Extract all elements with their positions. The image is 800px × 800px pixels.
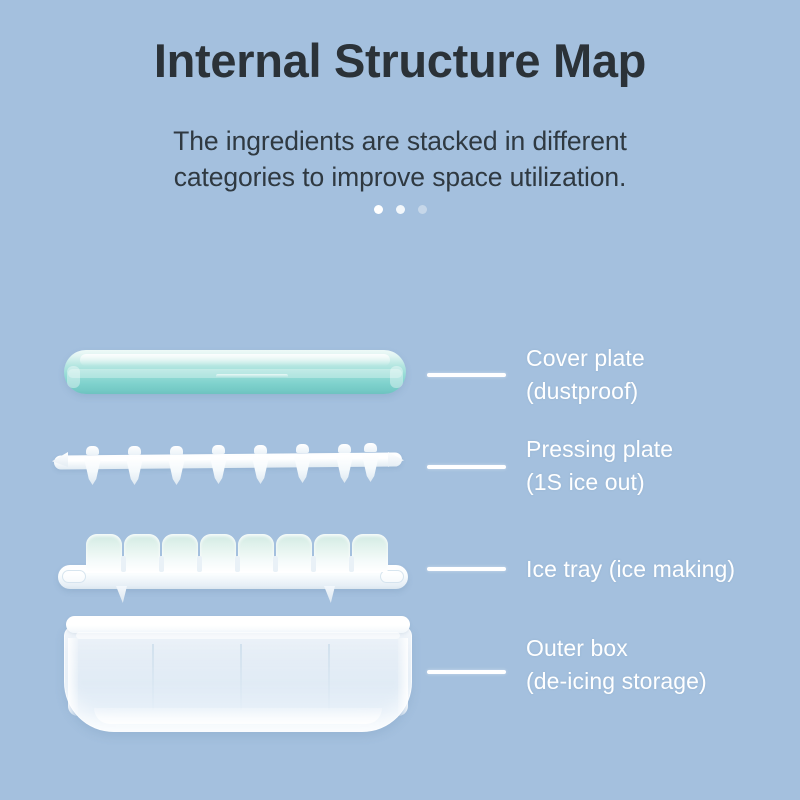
label-cover-plate-line-1: Cover plate [526, 342, 645, 375]
pressing-plate-nub [128, 446, 141, 455]
subtitle-line-2: categories to improve space utilization. [0, 160, 800, 196]
page-subtitle: The ingredients are stacked in different… [0, 124, 800, 195]
pressing-plate-prong [252, 457, 269, 484]
leader-line-outer-box [427, 670, 506, 674]
outer-box-inner-shelf [76, 632, 400, 639]
label-outer-box-line-1: Outer box [526, 632, 707, 665]
label-outer-box: Outer box (de-icing storage) [526, 632, 707, 697]
label-pressing-plate-line-1: Pressing plate [526, 433, 673, 466]
carousel-dots[interactable] [0, 205, 800, 214]
ice-tray-tab [116, 586, 127, 603]
pressing-plate-nub [296, 444, 309, 453]
pressing-plate-nub [338, 444, 351, 453]
label-pressing-plate-line-2: (1S ice out) [526, 466, 673, 499]
part-pressing-plate [54, 440, 402, 490]
outer-box-divider [152, 644, 154, 710]
outer-box-divider [328, 644, 330, 710]
label-outer-box-line-2: (de-icing storage) [526, 665, 707, 698]
carousel-dot-3[interactable] [418, 205, 427, 214]
cover-plate-highlight [80, 354, 390, 366]
leader-line-cover-plate [427, 373, 506, 377]
ice-tray-cube [276, 534, 312, 572]
cover-plate-seam [216, 374, 288, 378]
ice-tray-cube-gap [273, 556, 278, 572]
carousel-dot-1[interactable] [374, 205, 383, 214]
pressing-plate-nub [86, 446, 99, 455]
label-ice-tray: Ice tray (ice making) [526, 553, 735, 586]
outer-box-side-right [398, 638, 408, 716]
pressing-plate-prong [210, 457, 227, 484]
ice-tray-cube [162, 534, 198, 572]
page-title: Internal Structure Map [0, 36, 800, 87]
ice-tray-cube-gap [311, 556, 316, 572]
part-ice-tray [58, 534, 408, 598]
ice-tray-cube [124, 534, 160, 572]
ice-tray-cube-gap [197, 556, 202, 572]
pressing-plate-nub [364, 443, 377, 452]
pressing-plate-prong [294, 456, 311, 483]
ice-tray-tab [324, 586, 335, 603]
pressing-plate-prong [126, 458, 143, 485]
label-cover-plate: Cover plate (dustproof) [526, 342, 645, 407]
ice-tray-ear-left [62, 570, 86, 583]
ice-tray-cube [86, 534, 122, 572]
label-cover-plate-line-2: (dustproof) [526, 375, 645, 408]
pressing-plate-nub [212, 445, 225, 454]
part-outer-box [64, 616, 412, 732]
pressing-plate-prong [362, 455, 379, 482]
outer-box-side-left [68, 638, 78, 716]
ice-tray-cube [200, 534, 236, 572]
ice-tray-cube-gap [121, 556, 126, 572]
outer-box-rim [66, 616, 410, 633]
subtitle-line-1: The ingredients are stacked in different [0, 124, 800, 160]
cover-plate-end-left [67, 366, 80, 388]
pressing-plate-prong [168, 458, 185, 485]
ice-tray-cube [314, 534, 350, 572]
outer-box-divider [240, 644, 242, 710]
outer-box-floor [94, 708, 382, 724]
ice-tray-cube-gap [349, 556, 354, 572]
pressing-plate-prong [336, 456, 353, 483]
label-pressing-plate: Pressing plate (1S ice out) [526, 433, 673, 498]
pressing-plate-prong [84, 458, 101, 485]
label-ice-tray-line-1: Ice tray (ice making) [526, 553, 735, 586]
pressing-plate-nub [254, 445, 267, 454]
leader-line-pressing-plate [427, 465, 506, 469]
leader-line-ice-tray [427, 567, 506, 571]
ice-tray-cube-gap [159, 556, 164, 572]
pressing-plate-nub [170, 446, 183, 455]
carousel-dot-2[interactable] [396, 205, 405, 214]
infographic-canvas: Internal Structure Map The ingredients a… [0, 0, 800, 800]
ice-tray-cube [352, 534, 388, 572]
ice-tray-cube-gap [235, 556, 240, 572]
part-cover-plate [64, 350, 406, 394]
ice-tray-cube [238, 534, 274, 572]
cover-plate-end-right [390, 366, 403, 388]
